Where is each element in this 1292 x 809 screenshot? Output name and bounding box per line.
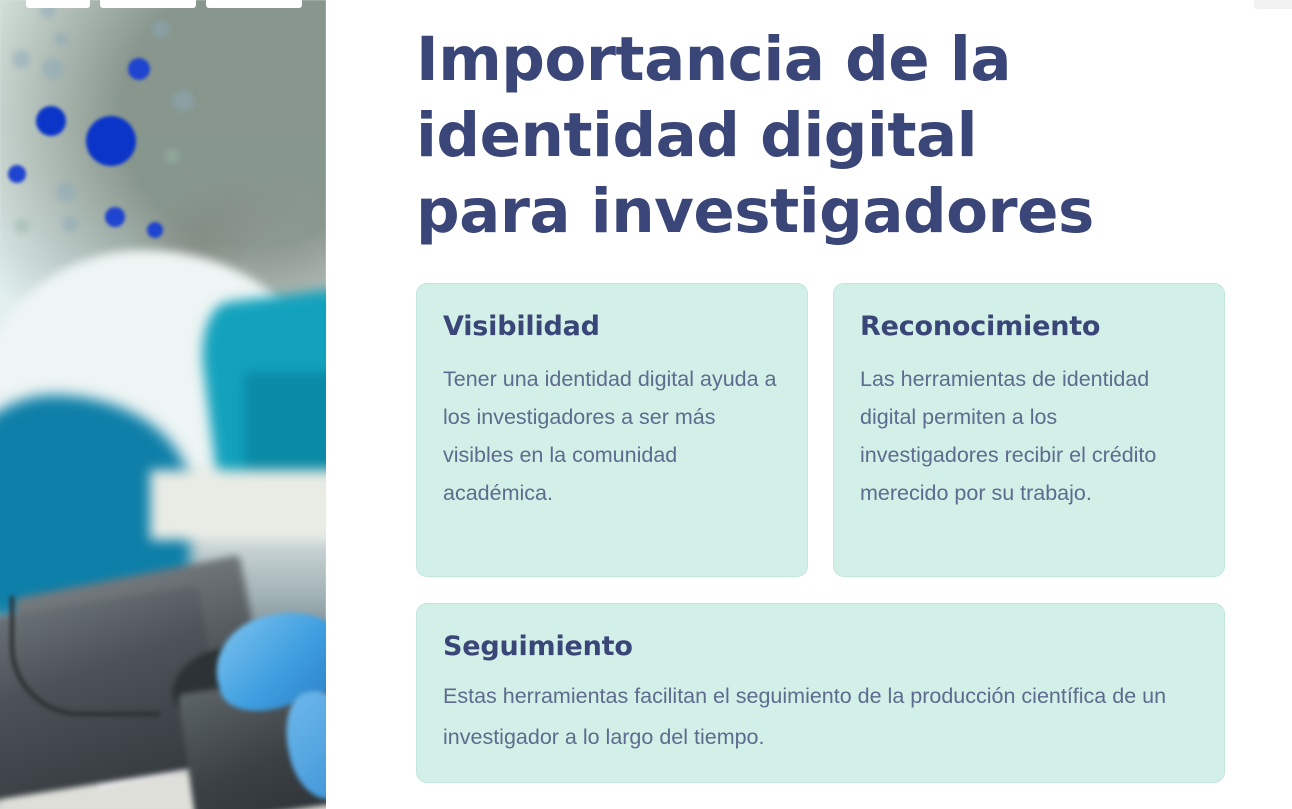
molecule-dot-faint-8-icon xyxy=(164,148,180,164)
molecule-dot-faint-5-icon xyxy=(172,90,194,112)
page-title-line-1: Importancia de la xyxy=(416,24,1011,95)
top-chip-3[interactable] xyxy=(206,0,302,8)
molecule-dot-small-3-icon xyxy=(105,207,125,227)
card-visibilidad: Visibilidad Tener una identidad digital … xyxy=(416,283,808,577)
top-chip-1[interactable] xyxy=(26,0,90,8)
molecule-dot-faint-7-icon xyxy=(62,216,78,232)
molecule-dot-faint-2-icon xyxy=(54,32,68,46)
molecule-dot-small-4-icon xyxy=(147,222,163,238)
molecule-dot-small-1-icon xyxy=(128,58,150,80)
content-area: Importancia de la identidad digital para… xyxy=(326,0,1292,809)
card-reconocimiento-title: Reconocimiento xyxy=(860,310,1196,344)
card-visibilidad-body: Tener una identidad digital ayuda a los … xyxy=(443,360,779,512)
page-title-line-2: identidad digital xyxy=(416,100,977,171)
top-chip-2[interactable] xyxy=(100,0,196,8)
molecule-dot-faint-1-icon xyxy=(12,50,30,68)
card-seguimiento: Seguimiento Estas herramientas facilitan… xyxy=(416,603,1225,783)
card-seguimiento-title: Seguimiento xyxy=(443,630,1196,664)
page-title: Importancia de la identidad digital para… xyxy=(416,22,1216,250)
page-title-line-3: para investigadores xyxy=(416,176,1094,247)
card-reconocimiento-body: Las herramientas de identidad digital pe… xyxy=(860,360,1196,512)
slide-root: Importancia de la identidad digital para… xyxy=(0,0,1292,809)
lab-photo-panel xyxy=(0,0,326,809)
card-visibilidad-title: Visibilidad xyxy=(443,310,779,344)
top-chip-group[interactable] xyxy=(0,0,302,8)
top-right-panel-edge xyxy=(1254,0,1292,9)
molecule-dot-faint-9-icon xyxy=(14,218,30,234)
molecule-dot-faint-3-icon xyxy=(42,58,64,80)
photo-keyboard-cable xyxy=(10,596,160,716)
molecule-dot-mid-icon xyxy=(36,106,66,136)
molecule-dot-faint-6-icon xyxy=(56,182,76,202)
card-reconocimiento: Reconocimiento Las herramientas de ident… xyxy=(833,283,1225,577)
card-seguimiento-body: Estas herramientas facilitan el seguimie… xyxy=(443,676,1196,758)
molecule-dot-small-2-icon xyxy=(8,165,26,183)
molecule-dot-large-icon xyxy=(86,116,136,166)
molecule-dot-faint-4-icon xyxy=(152,20,170,38)
photo-white-strip xyxy=(150,470,326,540)
cards-top-row: Visibilidad Tener una identidad digital … xyxy=(416,283,1225,577)
